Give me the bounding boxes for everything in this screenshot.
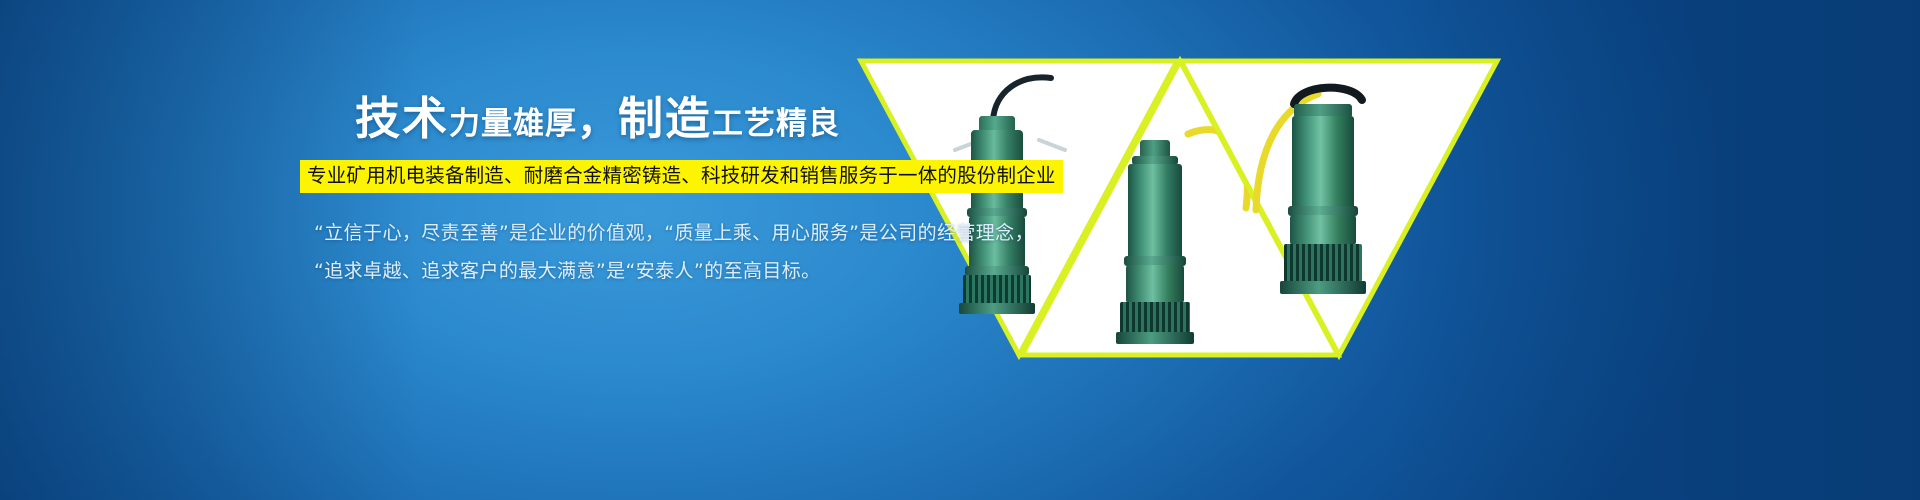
banner-product-graphic xyxy=(858,58,1558,368)
submersible-pump-right xyxy=(1274,72,1424,302)
headline-segment-2: 力量雄厚 xyxy=(449,106,577,142)
banner-paragraph: “立信于心，尽责至善”是企业的价值观，“质量上乘、用心服务”是公司的经营理念， … xyxy=(300,215,900,289)
triangle-right-down xyxy=(1178,58,1500,358)
paragraph-line-1: “立信于心，尽责至善”是企业的价值观，“质量上乘、用心服务”是公司的经营理念， xyxy=(300,215,900,252)
headline-comma: ， xyxy=(577,98,618,144)
banner-text-block: 技术力量雄厚，制造工艺精良 专业矿用机电装备制造、耐磨合金精密铸造、科技研发和销… xyxy=(300,96,900,290)
banner-headline: 技术力量雄厚，制造工艺精良 xyxy=(355,96,900,141)
headline-segment-4: 工艺精良 xyxy=(712,106,840,142)
headline-segment-3: 制造 xyxy=(618,92,712,145)
banner-highlight-band: 专业矿用机电装备制造、耐磨合金精密铸造、科技研发和销售服务于一体的股份制企业 xyxy=(300,160,1063,193)
paragraph-line-2: “追求卓越、追求客户的最大满意”是“安泰人”的至高目标。 xyxy=(300,253,900,290)
headline-segment-1: 技术 xyxy=(355,92,449,145)
promo-banner: 技术力量雄厚，制造工艺精良 专业矿用机电装备制造、耐磨合金精密铸造、科技研发和销… xyxy=(0,0,1920,500)
